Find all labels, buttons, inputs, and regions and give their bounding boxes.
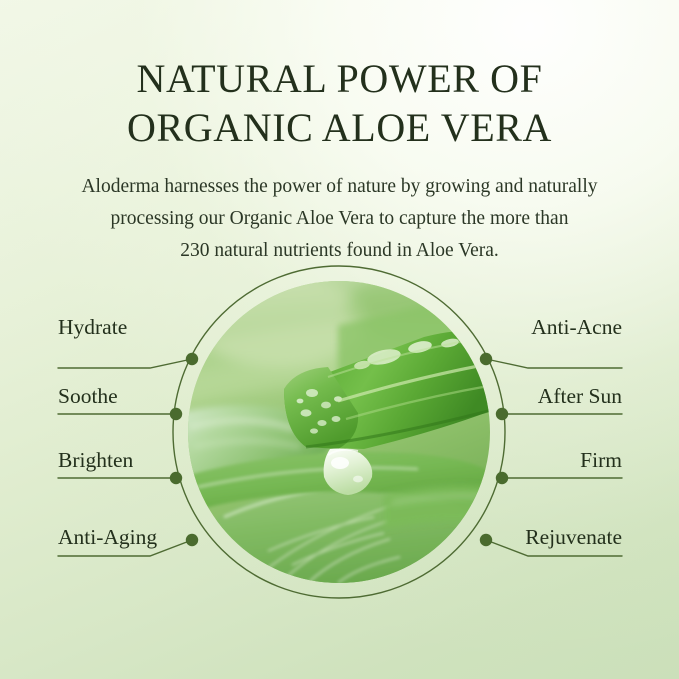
benefit-label-anti-acne[interactable]: Anti-Acne (531, 317, 622, 339)
benefit-label-firm[interactable]: Firm (580, 450, 622, 472)
connector-hydrate (58, 359, 192, 368)
dot-soothe (170, 408, 182, 420)
benefit-label-anti-aging[interactable]: Anti-Aging (58, 527, 157, 549)
dot-brighten (170, 472, 182, 484)
dot-anti-acne (480, 353, 492, 365)
poster-canvas: NATURAL POWER OF ORGANIC ALOE VERA Alode… (0, 0, 679, 679)
benefit-label-after-sun[interactable]: After Sun (538, 386, 622, 408)
connector-anti-acne (486, 359, 622, 368)
benefit-label-soothe[interactable]: Soothe (58, 386, 118, 408)
benefit-label-hydrate[interactable]: Hydrate (58, 317, 127, 339)
outer-ring-circle (173, 266, 505, 598)
dot-hydrate (186, 353, 198, 365)
benefits-diagram (0, 0, 679, 679)
benefit-label-brighten[interactable]: Brighten (58, 450, 133, 472)
dot-rejuvenate (480, 534, 492, 546)
dot-firm (496, 472, 508, 484)
dot-anti-aging (186, 534, 198, 546)
benefit-label-rejuvenate[interactable]: Rejuvenate (525, 527, 622, 549)
connector-dots (170, 353, 508, 546)
diagram-lines-layer (0, 0, 679, 679)
dot-after-sun (496, 408, 508, 420)
